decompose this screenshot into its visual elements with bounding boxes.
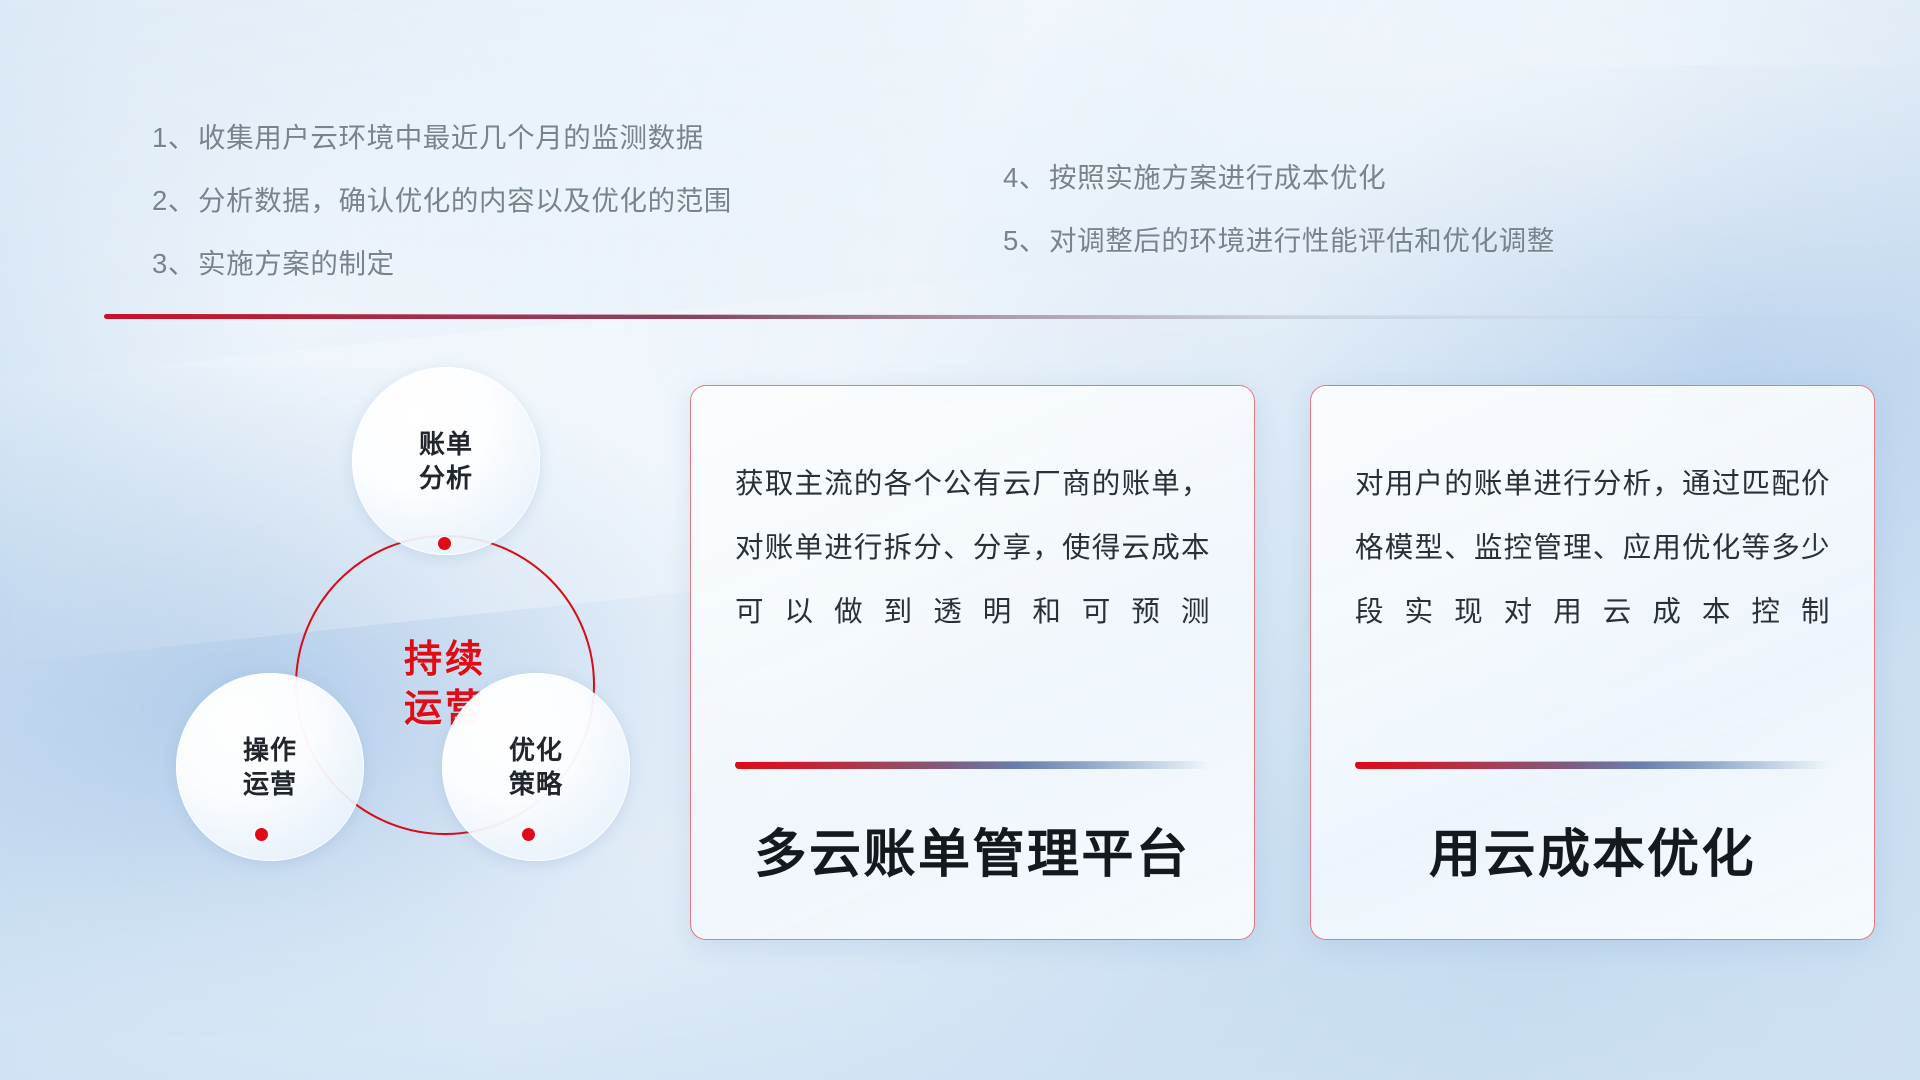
step-item: 1、 收集用户云环境中最近几个月的监测数据 (152, 115, 732, 155)
step-item: 5、 对调整后的环境进行性能评估和优化调整 (1003, 218, 1555, 258)
connector-dot-bottom-left (255, 828, 268, 841)
card-title: 多云账单管理平台 (735, 812, 1210, 887)
step-item: 3、 实施方案的制定 (152, 241, 732, 281)
step-number: 1、 (152, 115, 196, 155)
steps-column-left: 1、 收集用户云环境中最近几个月的监测数据 2、 分析数据，确认优化的内容以及优… (152, 115, 732, 304)
connector-dot-top (438, 537, 451, 550)
step-number: 3、 (152, 241, 196, 281)
cards-section: 获取主流的各个公有云厂商的账单，对账单进行拆分、分享，使得云成本可以做到透明和可… (690, 385, 1875, 940)
bubble-label-line2: 运营 (243, 767, 297, 801)
step-text: 分析数据，确认优化的内容以及优化的范围 (198, 178, 732, 218)
step-item: 4、 按照实施方案进行成本优化 (1003, 155, 1555, 195)
card-divider-rule (735, 761, 1210, 769)
connector-dot-bottom-right (522, 828, 535, 841)
venn-diagram: 持续 运营 账单 分析 操作 运营 优化 策略 (100, 355, 640, 935)
step-text: 按照实施方案进行成本优化 (1049, 155, 1386, 195)
step-text: 收集用户云环境中最近几个月的监测数据 (198, 115, 704, 155)
steps-column-right: 4、 按照实施方案进行成本优化 5、 对调整后的环境进行性能评估和优化调整 (1003, 155, 1555, 281)
bubble-label-line2: 策略 (509, 767, 563, 801)
card-body-text: 获取主流的各个公有云厂商的账单，对账单进行拆分、分享，使得云成本可以做到透明和可… (735, 452, 1210, 644)
bubble-label-line1: 操作 (243, 733, 297, 767)
step-text: 对调整后的环境进行性能评估和优化调整 (1049, 218, 1555, 258)
bubble-label-line1: 账单 (419, 427, 473, 461)
step-text: 实施方案的制定 (198, 241, 395, 281)
card-title: 用云成本优化 (1355, 812, 1830, 887)
step-number: 2、 (152, 178, 196, 218)
step-number: 4、 (1003, 155, 1047, 195)
card-multi-cloud-billing[interactable]: 获取主流的各个公有云厂商的账单，对账单进行拆分、分享，使得云成本可以做到透明和可… (690, 385, 1255, 940)
bubble-operations[interactable]: 操作 运营 (176, 673, 364, 861)
card-body-text: 对用户的账单进行分析，通过匹配价格模型、监控管理、应用优化等多少段实现对用云成本… (1355, 452, 1830, 644)
card-divider-rule (1355, 761, 1830, 769)
step-item: 2、 分析数据，确认优化的内容以及优化的范围 (152, 178, 732, 218)
center-label-line1: 持续 (404, 636, 486, 685)
bubble-label-line2: 分析 (419, 461, 473, 495)
step-number: 5、 (1003, 218, 1047, 258)
bubble-optimization-strategy[interactable]: 优化 策略 (442, 673, 630, 861)
bubble-label-line1: 优化 (509, 733, 563, 767)
bubble-bill-analysis[interactable]: 账单 分析 (352, 367, 540, 555)
card-cloud-cost-optimization[interactable]: 对用户的账单进行分析，通过匹配价格模型、监控管理、应用优化等多少段实现对用云成本… (1310, 385, 1875, 940)
